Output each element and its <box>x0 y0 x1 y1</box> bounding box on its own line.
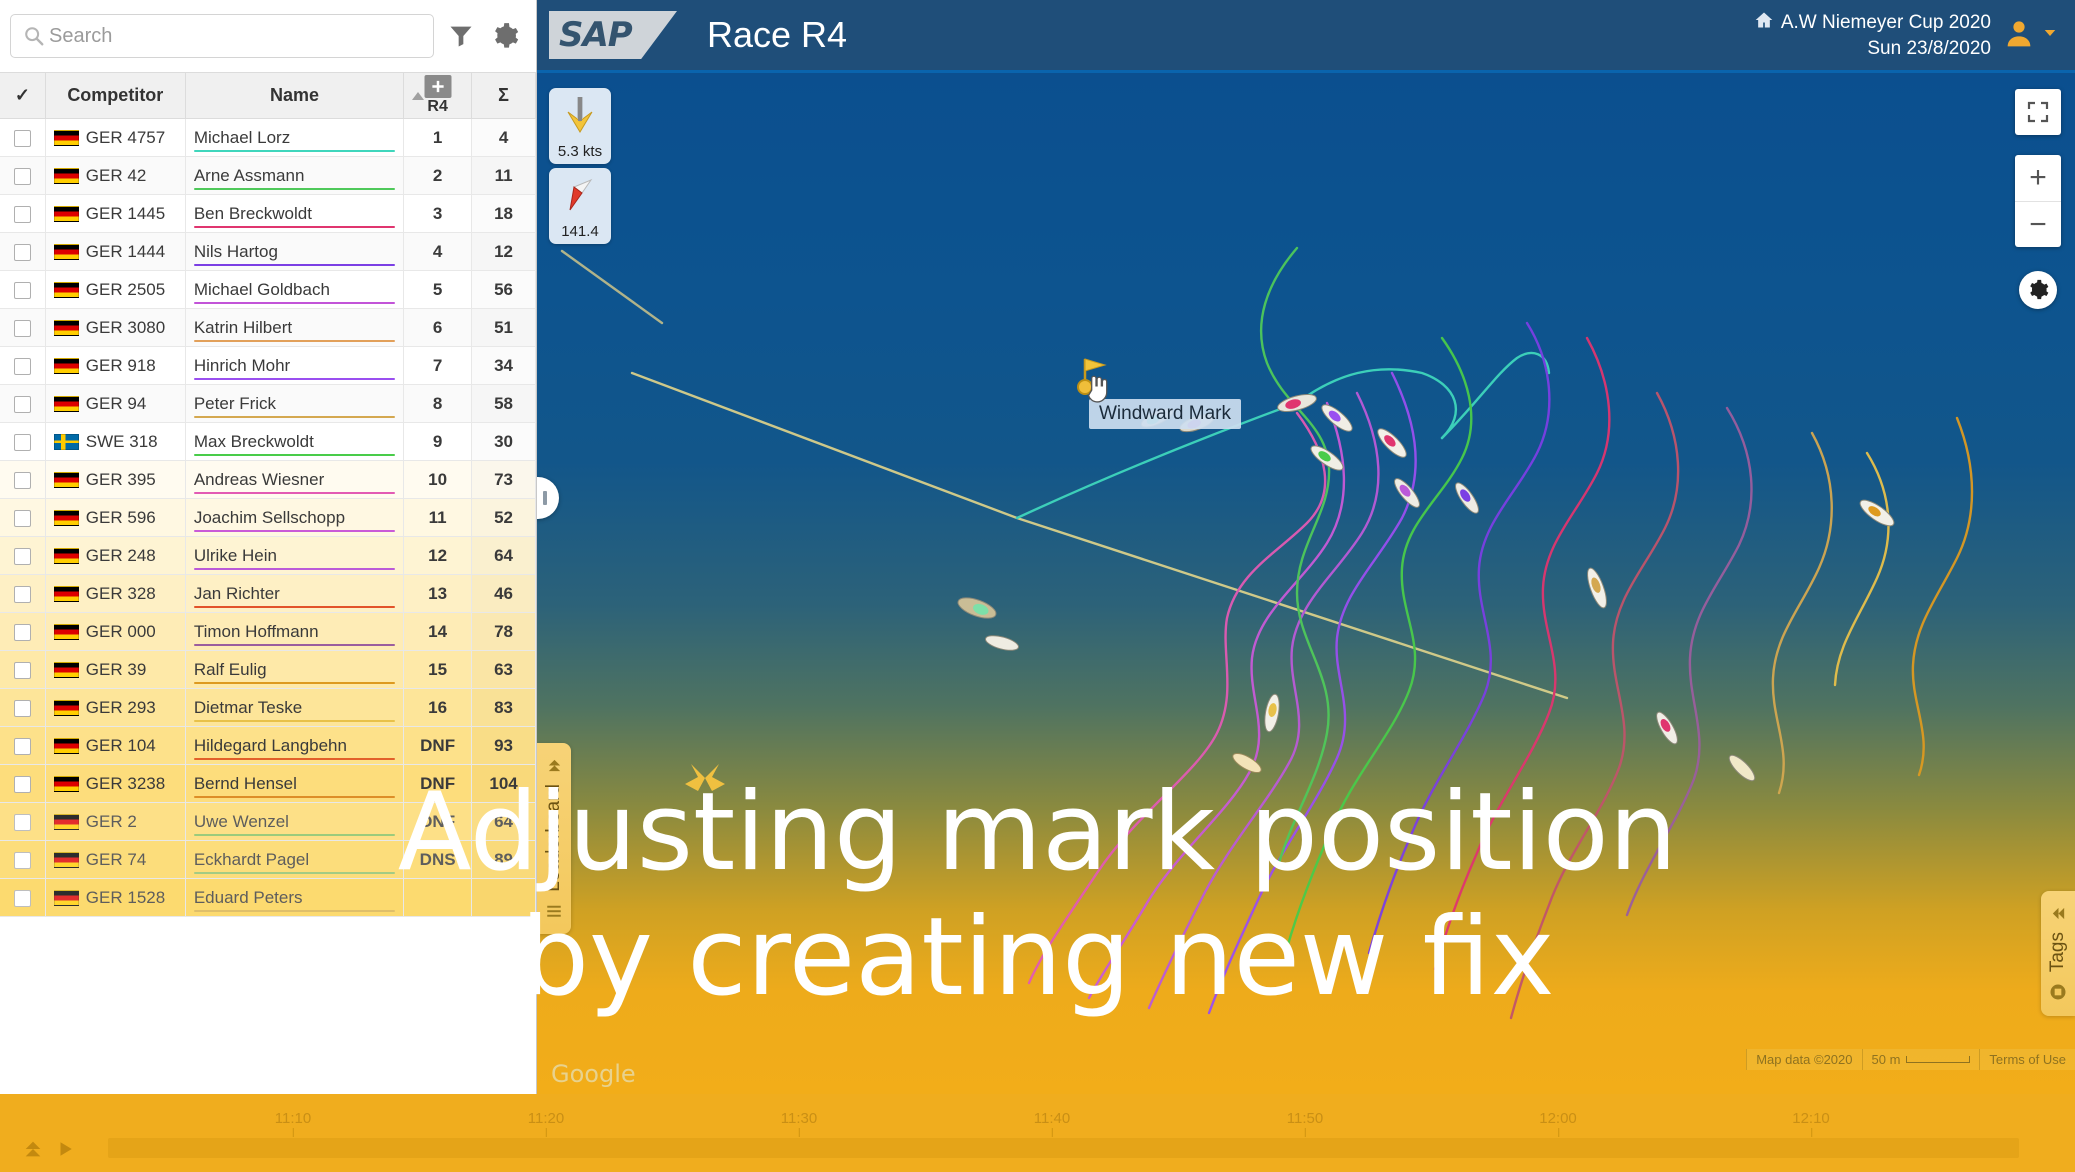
search-toolbar <box>0 0 536 72</box>
row-checkbox-cell[interactable] <box>0 309 45 347</box>
rank-cell: DNF <box>404 765 472 803</box>
competitor-cell: GER 1445 <box>45 195 185 233</box>
competitor-name-cell: Peter Frick <box>185 385 403 423</box>
wind-direction-widget[interactable]: 141.4 <box>549 168 611 244</box>
timeline-scrubber[interactable] <box>108 1138 2019 1158</box>
tag-icon <box>2048 982 2068 1002</box>
competitor-name: Timon Hoffmann <box>194 622 319 641</box>
competitor-cell: GER 74 <box>45 841 185 879</box>
rank-cell: 7 <box>404 347 472 385</box>
user-menu[interactable] <box>2003 17 2059 54</box>
competitor-name-cell: Dietmar Teske <box>185 689 403 727</box>
total-cell: 12 <box>472 233 536 271</box>
google-watermark: Google <box>551 1060 636 1088</box>
row-checkbox[interactable] <box>14 472 31 489</box>
row-checkbox[interactable] <box>14 586 31 603</box>
country-flag-icon <box>54 168 79 184</box>
play-button[interactable] <box>56 1140 74 1163</box>
boat-icons-layer <box>537 73 2075 1094</box>
row-checkbox[interactable] <box>14 358 31 375</box>
total-cell: 18 <box>472 195 536 233</box>
chevron-up-double-icon <box>22 1138 44 1160</box>
timeline-controls <box>22 1138 74 1165</box>
row-checkbox-cell[interactable] <box>0 271 45 309</box>
competitor-name: Katrin Hilbert <box>194 318 292 337</box>
table-row[interactable]: GER 395Andreas Wiesner1073 <box>0 461 536 499</box>
sail-number: GER 1444 <box>86 242 165 261</box>
competitor-name-cell: Arne Assmann <box>185 157 403 195</box>
row-checkbox[interactable] <box>14 206 31 223</box>
timeline-tick: 11:50 <box>1287 1110 1323 1127</box>
competitor-cell: SWE 318 <box>45 423 185 461</box>
wind-arrow-icon <box>560 94 600 136</box>
row-checkbox[interactable] <box>14 776 31 793</box>
row-checkbox-cell[interactable] <box>0 575 45 613</box>
search-field-wrapper[interactable] <box>10 14 434 58</box>
competitor-color-swatch <box>194 340 395 342</box>
total-cell: 51 <box>472 309 536 347</box>
table-row[interactable]: GER 104Hildegard LangbehnDNF93 <box>0 727 536 765</box>
competitor-name-cell: Hildegard Langbehn <box>185 727 403 765</box>
table-row[interactable]: GER 42Arne Assmann211 <box>0 157 536 195</box>
total-cell: 104 <box>472 765 536 803</box>
sail-number: GER 42 <box>86 166 146 185</box>
competitor-table: ✓ Competitor Name R4 Σ GER 4757Michael L… <box>0 72 536 917</box>
row-checkbox-cell[interactable] <box>0 613 45 651</box>
rank-cell: 2 <box>404 157 472 195</box>
row-checkbox[interactable] <box>14 510 31 527</box>
row-checkbox-cell[interactable] <box>0 233 45 271</box>
row-checkbox[interactable] <box>14 320 31 337</box>
competitor-color-swatch <box>194 530 395 532</box>
competitor-name-cell: Michael Lorz <box>185 119 403 157</box>
competitor-name: Jan Richter <box>194 584 280 603</box>
rank-cell: DNF <box>404 803 472 841</box>
competitor-name: Ralf Eulig <box>194 660 267 679</box>
leaderboard-tab-label: Leaderboard <box>543 784 565 892</box>
row-checkbox[interactable] <box>14 814 31 831</box>
competitor-cell: GER 1528 <box>45 879 185 917</box>
total-cell: 64 <box>472 537 536 575</box>
table-row[interactable]: GER 248Ulrike Hein1264 <box>0 537 536 575</box>
competitor-name-cell: Katrin Hilbert <box>185 309 403 347</box>
row-checkbox[interactable] <box>14 396 31 413</box>
country-flag-icon <box>54 586 79 602</box>
competitor-cell: GER 395 <box>45 461 185 499</box>
competitor-cell: GER 918 <box>45 347 185 385</box>
total-cell: 4 <box>472 119 536 157</box>
sail-number: GER 248 <box>86 546 156 565</box>
competitor-name-cell: Max Breckwoldt <box>185 423 403 461</box>
competitor-name-cell: Joachim Sellschopp <box>185 499 403 537</box>
competitor-color-swatch <box>194 568 395 570</box>
competitor-color-swatch <box>194 872 395 874</box>
competitor-name: Nils Hartog <box>194 242 278 261</box>
country-flag-icon <box>54 852 79 868</box>
country-flag-icon <box>54 700 79 716</box>
competitor-name-cell: Eckhardt Pagel <box>185 841 403 879</box>
country-flag-icon <box>54 776 79 792</box>
row-checkbox-cell[interactable] <box>0 347 45 385</box>
row-checkbox-cell[interactable] <box>0 879 45 917</box>
home-icon[interactable] <box>1754 10 1774 37</box>
leaderboard-tab[interactable]: Leaderboard <box>537 743 571 934</box>
country-flag-icon <box>54 814 79 830</box>
competitor-color-swatch <box>194 796 395 798</box>
table-row[interactable]: GER 2Uwe WenzelDNF64 <box>0 803 536 841</box>
timeline-tick-label: 11:10 <box>275 1110 311 1127</box>
rank-cell: 11 <box>404 499 472 537</box>
chevron-left-double-icon <box>2050 905 2067 922</box>
compass-needle-icon <box>560 174 600 216</box>
competitor-color-swatch <box>194 606 395 608</box>
row-checkbox[interactable] <box>14 434 31 451</box>
country-flag-icon <box>54 890 79 906</box>
table-row[interactable]: GER 596Joachim Sellschopp1152 <box>0 499 536 537</box>
search-input[interactable] <box>49 16 433 56</box>
rank-cell: 3 <box>404 195 472 233</box>
gear-icon <box>2027 279 2049 301</box>
table-row[interactable]: GER 918Hinrich Mohr734 <box>0 347 536 385</box>
competitor-name-cell: Michael Goldbach <box>185 271 403 309</box>
rank-cell: 5 <box>404 271 472 309</box>
total-cell: 52 <box>472 499 536 537</box>
table-row[interactable]: GER 3238Bernd HenselDNF104 <box>0 765 536 803</box>
sail-number: GER 2505 <box>86 280 165 299</box>
row-checkbox-cell[interactable] <box>0 461 45 499</box>
timeline-tick: 11:30 <box>781 1110 817 1127</box>
table-row[interactable]: SWE 318Max Breckwoldt930 <box>0 423 536 461</box>
row-checkbox-cell[interactable] <box>0 499 45 537</box>
competitor-color-swatch <box>194 910 395 912</box>
row-checkbox[interactable] <box>14 168 31 185</box>
search-icon <box>19 25 49 47</box>
sail-number: SWE 318 <box>86 432 158 451</box>
column-header-total[interactable]: Σ <box>472 73 536 119</box>
row-checkbox-cell[interactable] <box>0 841 45 879</box>
row-checkbox-cell[interactable] <box>0 765 45 803</box>
event-name: A.W Niemeyer Cup 2020 <box>1781 11 1991 35</box>
timeline-tick-label: 11:50 <box>1287 1110 1323 1127</box>
competitor-name: Hildegard Langbehn <box>194 736 347 755</box>
competitor-cell: GER 39 <box>45 651 185 689</box>
table-header-row: ✓ Competitor Name R4 Σ <box>0 73 536 119</box>
competitor-name-cell: Eduard Peters <box>185 879 403 917</box>
sail-number: GER 293 <box>86 698 156 717</box>
competitor-name-cell: Uwe Wenzel <box>185 803 403 841</box>
main-area: SAP Race R4 A.W Niemeyer Cup 2020 Sun 23… <box>537 0 2075 1094</box>
column-header-select-all[interactable]: ✓ <box>0 73 45 119</box>
rank-cell: 1 <box>404 119 472 157</box>
row-checkbox-cell[interactable] <box>0 157 45 195</box>
country-flag-icon <box>54 434 79 450</box>
country-flag-icon <box>54 510 79 526</box>
zoom-out-button[interactable]: − <box>2015 201 2061 247</box>
sail-number: GER 918 <box>86 356 156 375</box>
competitor-cell: GER 000 <box>45 613 185 651</box>
competitor-color-swatch <box>194 302 395 304</box>
competitor-color-swatch <box>194 492 395 494</box>
row-checkbox-cell[interactable] <box>0 195 45 233</box>
competitor-cell: GER 104 <box>45 727 185 765</box>
country-flag-icon <box>54 738 79 754</box>
total-cell: 73 <box>472 461 536 499</box>
competitor-name-cell: Ulrike Hein <box>185 537 403 575</box>
competitor-cell: GER 94 <box>45 385 185 423</box>
competitor-cell: GER 3080 <box>45 309 185 347</box>
competitor-name: Bernd Hensel <box>194 774 297 793</box>
competitor-cell: GER 4757 <box>45 119 185 157</box>
zoom-controls[interactable]: + − <box>2015 155 2061 247</box>
competitor-name-cell: Ralf Eulig <box>185 651 403 689</box>
row-checkbox[interactable] <box>14 244 31 261</box>
sail-number: GER 4757 <box>86 128 165 147</box>
competitor-color-swatch <box>194 416 395 418</box>
country-flag-icon <box>54 472 79 488</box>
rank-cell: 9 <box>404 423 472 461</box>
sap-logo: SAP <box>549 11 677 59</box>
sail-number: GER 1528 <box>86 888 165 907</box>
competitor-name: Michael Lorz <box>194 128 290 147</box>
competitor-color-swatch <box>194 378 395 380</box>
race-title: Race R4 <box>707 14 847 56</box>
gear-icon[interactable] <box>488 19 522 53</box>
column-header-name[interactable]: Name <box>185 73 403 119</box>
country-flag-icon <box>54 282 79 298</box>
competitor-panel: ✓ Competitor Name R4 Σ GER 4757Michael L… <box>0 0 537 1094</box>
timeline-tick-label: 12:00 <box>1539 1110 1577 1127</box>
competitor-name: Arne Assmann <box>194 166 305 185</box>
competitor-name: Andreas Wiesner <box>194 470 324 489</box>
total-cell: 78 <box>472 613 536 651</box>
competitor-color-swatch <box>194 264 395 266</box>
row-checkbox[interactable] <box>14 282 31 299</box>
country-flag-icon <box>54 130 79 146</box>
sail-number: GER 395 <box>86 470 156 489</box>
country-flag-icon <box>54 662 79 678</box>
total-cell: 83 <box>472 689 536 727</box>
competitor-color-swatch <box>194 188 395 190</box>
map-settings-button[interactable] <box>2019 271 2057 309</box>
competitor-cell: GER 248 <box>45 537 185 575</box>
competitor-color-swatch <box>194 226 395 228</box>
competitor-color-swatch <box>194 682 395 684</box>
event-date: Sun 23/8/2020 <box>1754 37 1991 61</box>
table-row[interactable]: GER 1445Ben Breckwoldt318 <box>0 195 536 233</box>
competitor-cell: GER 2505 <box>45 271 185 309</box>
competitor-name-cell: Jan Richter <box>185 575 403 613</box>
table-row[interactable]: GER 000Timon Hoffmann1478 <box>0 613 536 651</box>
rank-cell: 16 <box>404 689 472 727</box>
timeline-tick-label: 11:20 <box>528 1110 564 1127</box>
row-checkbox-cell[interactable] <box>0 651 45 689</box>
timeline-expand-button[interactable] <box>22 1138 44 1165</box>
competitor-name-cell: Timon Hoffmann <box>185 613 403 651</box>
timeline[interactable]: 11:1011:2011:3011:4011:5012:0012:10 <box>0 1094 2075 1172</box>
total-cell: 58 <box>472 385 536 423</box>
table-row[interactable]: GER 1528Eduard Peters <box>0 879 536 917</box>
country-flag-icon <box>54 320 79 336</box>
rank-cell: 8 <box>404 385 472 423</box>
competitor-color-swatch <box>194 150 395 152</box>
row-checkbox-cell[interactable] <box>0 537 45 575</box>
total-cell: 30 <box>472 423 536 461</box>
rank-cell: 10 <box>404 461 472 499</box>
map-data-text: Map data ©2020 <box>1746 1049 1861 1070</box>
row-checkbox[interactable] <box>14 548 31 565</box>
tags-tab[interactable]: Tags <box>2041 891 2075 1016</box>
total-cell: 89 <box>472 841 536 879</box>
table-row[interactable]: GER 293Dietmar Teske1683 <box>0 689 536 727</box>
total-cell: 56 <box>472 271 536 309</box>
competitor-cell: GER 3238 <box>45 765 185 803</box>
row-checkbox-cell[interactable] <box>0 119 45 157</box>
row-checkbox-cell[interactable] <box>0 385 45 423</box>
wind-direction-label: 141.4 <box>549 223 611 240</box>
row-checkbox[interactable] <box>14 738 31 755</box>
total-cell: 34 <box>472 347 536 385</box>
map-attribution: Map data ©2020 50 m Terms of Use <box>1746 1049 2075 1070</box>
total-cell <box>472 879 536 917</box>
rank-cell: 4 <box>404 233 472 271</box>
rank-cell: 6 <box>404 309 472 347</box>
competitor-name-cell: Nils Hartog <box>185 233 403 271</box>
sail-number: GER 328 <box>86 584 156 603</box>
table-row[interactable]: GER 1444Nils Hartog412 <box>0 233 536 271</box>
table-row[interactable]: GER 94Peter Frick858 <box>0 385 536 423</box>
row-checkbox-cell[interactable] <box>0 423 45 461</box>
competitor-name-cell: Ben Breckwoldt <box>185 195 403 233</box>
timeline-tick: 11:20 <box>528 1110 564 1127</box>
hand-cursor-icon <box>1083 373 1109 403</box>
sail-number: GER 2 <box>86 812 137 831</box>
timeline-tick: 11:40 <box>1034 1110 1070 1127</box>
competitor-color-swatch <box>194 720 395 722</box>
zoom-in-button[interactable]: + <box>2015 155 2061 201</box>
total-cell: 64 <box>472 803 536 841</box>
row-checkbox-cell[interactable] <box>0 689 45 727</box>
competitor-name: Joachim Sellschopp <box>194 508 345 527</box>
select-all-check-icon: ✓ <box>15 85 30 105</box>
table-row[interactable]: GER 39Ralf Eulig1563 <box>0 651 536 689</box>
timeline-tick-label: 11:30 <box>781 1110 817 1127</box>
row-checkbox-cell[interactable] <box>0 727 45 765</box>
wind-speed-widget[interactable]: 5.3 kts <box>549 88 611 164</box>
fullscreen-button[interactable] <box>2015 89 2061 135</box>
timeline-tick: 12:10 <box>1792 1110 1830 1127</box>
map-scale: 50 m <box>1862 1049 1980 1070</box>
competitor-name: Peter Frick <box>194 394 276 413</box>
row-checkbox-cell[interactable] <box>0 803 45 841</box>
country-flag-icon <box>54 244 79 260</box>
competitor-name-cell: Andreas Wiesner <box>185 461 403 499</box>
total-cell: 63 <box>472 651 536 689</box>
competitor-cell: GER 2 <box>45 803 185 841</box>
country-flag-icon <box>54 358 79 374</box>
rank-cell: 14 <box>404 613 472 651</box>
sail-number: GER 74 <box>86 850 146 869</box>
timeline-tick: 12:00 <box>1539 1110 1577 1127</box>
competitor-color-swatch <box>194 834 395 836</box>
filter-icon[interactable] <box>444 19 478 53</box>
timeline-tick: 11:10 <box>275 1110 311 1127</box>
row-checkbox[interactable] <box>14 130 31 147</box>
app-header: SAP Race R4 A.W Niemeyer Cup 2020 Sun 23… <box>537 0 2075 73</box>
competitor-color-swatch <box>194 644 395 646</box>
competitor-name: Eduard Peters <box>194 888 303 907</box>
sail-number: GER 000 <box>86 622 156 641</box>
rank-cell: DNF <box>404 727 472 765</box>
competitor-name: Ulrike Hein <box>194 546 277 565</box>
country-flag-icon <box>54 624 79 640</box>
column-header-competitor[interactable]: Competitor <box>45 73 185 119</box>
terms-of-use-link[interactable]: Terms of Use <box>1979 1049 2075 1070</box>
rank-cell <box>404 879 472 917</box>
event-info: A.W Niemeyer Cup 2020 Sun 23/8/2020 <box>1754 10 1991 61</box>
scale-bar <box>1906 1056 1970 1063</box>
country-flag-icon <box>54 206 79 222</box>
row-checkbox[interactable] <box>14 700 31 717</box>
list-icon <box>545 902 563 920</box>
sail-number: GER 3238 <box>86 774 165 793</box>
competitor-name: Max Breckwoldt <box>194 432 314 451</box>
total-cell: 46 <box>472 575 536 613</box>
add-race-button[interactable] <box>424 75 451 98</box>
mark-tooltip: Windward Mark <box>1089 399 1241 429</box>
sail-number: GER 596 <box>86 508 156 527</box>
table-row[interactable]: GER 328Jan Richter1346 <box>0 575 536 613</box>
table-row[interactable]: GER 74Eckhardt PagelDNS89 <box>0 841 536 879</box>
competitor-cell: GER 328 <box>45 575 185 613</box>
map-scale-label: 50 m <box>1872 1052 1901 1067</box>
column-header-rank[interactable]: R4 <box>404 73 472 119</box>
table-row[interactable]: GER 4757Michael Lorz14 <box>0 119 536 157</box>
competitor-color-swatch <box>194 454 395 456</box>
race-map[interactable]: Windward Mark 5.3 kts 141.4 <box>537 73 2075 1094</box>
timeline-ticks: 11:1011:2011:3011:4011:5012:0012:10 <box>0 1110 2075 1132</box>
competitor-cell: GER 293 <box>45 689 185 727</box>
rank-cell: 15 <box>404 651 472 689</box>
competitor-name: Uwe Wenzel <box>194 812 289 831</box>
chevron-down-icon <box>2041 24 2059 47</box>
fullscreen-icon <box>2026 100 2050 124</box>
rank-cell: 12 <box>404 537 472 575</box>
row-checkbox[interactable] <box>14 624 31 641</box>
competitor-name: Ben Breckwoldt <box>194 204 312 223</box>
row-checkbox[interactable] <box>14 852 31 869</box>
rank-column-label: R4 <box>404 98 471 116</box>
user-avatar-icon <box>2003 17 2035 54</box>
wind-speed-label: 5.3 kts <box>549 143 611 160</box>
play-icon <box>56 1140 74 1158</box>
sail-number: GER 1445 <box>86 204 165 223</box>
competitor-cell: GER 1444 <box>45 233 185 271</box>
row-checkbox[interactable] <box>14 890 31 907</box>
country-flag-icon <box>54 548 79 564</box>
competitor-cell: GER 596 <box>45 499 185 537</box>
timeline-tick-label: 12:10 <box>1792 1110 1830 1127</box>
total-cell: 11 <box>472 157 536 195</box>
chevron-up-double-icon <box>546 757 563 774</box>
rank-cell: DNS <box>404 841 472 879</box>
competitor-name: Dietmar Teske <box>194 698 302 717</box>
country-flag-icon <box>54 396 79 412</box>
table-row[interactable]: GER 2505Michael Goldbach556 <box>0 271 536 309</box>
row-checkbox[interactable] <box>14 662 31 679</box>
table-row[interactable]: GER 3080Katrin Hilbert651 <box>0 309 536 347</box>
sail-number: GER 104 <box>86 736 156 755</box>
tags-tab-label: Tags <box>2047 932 2069 972</box>
